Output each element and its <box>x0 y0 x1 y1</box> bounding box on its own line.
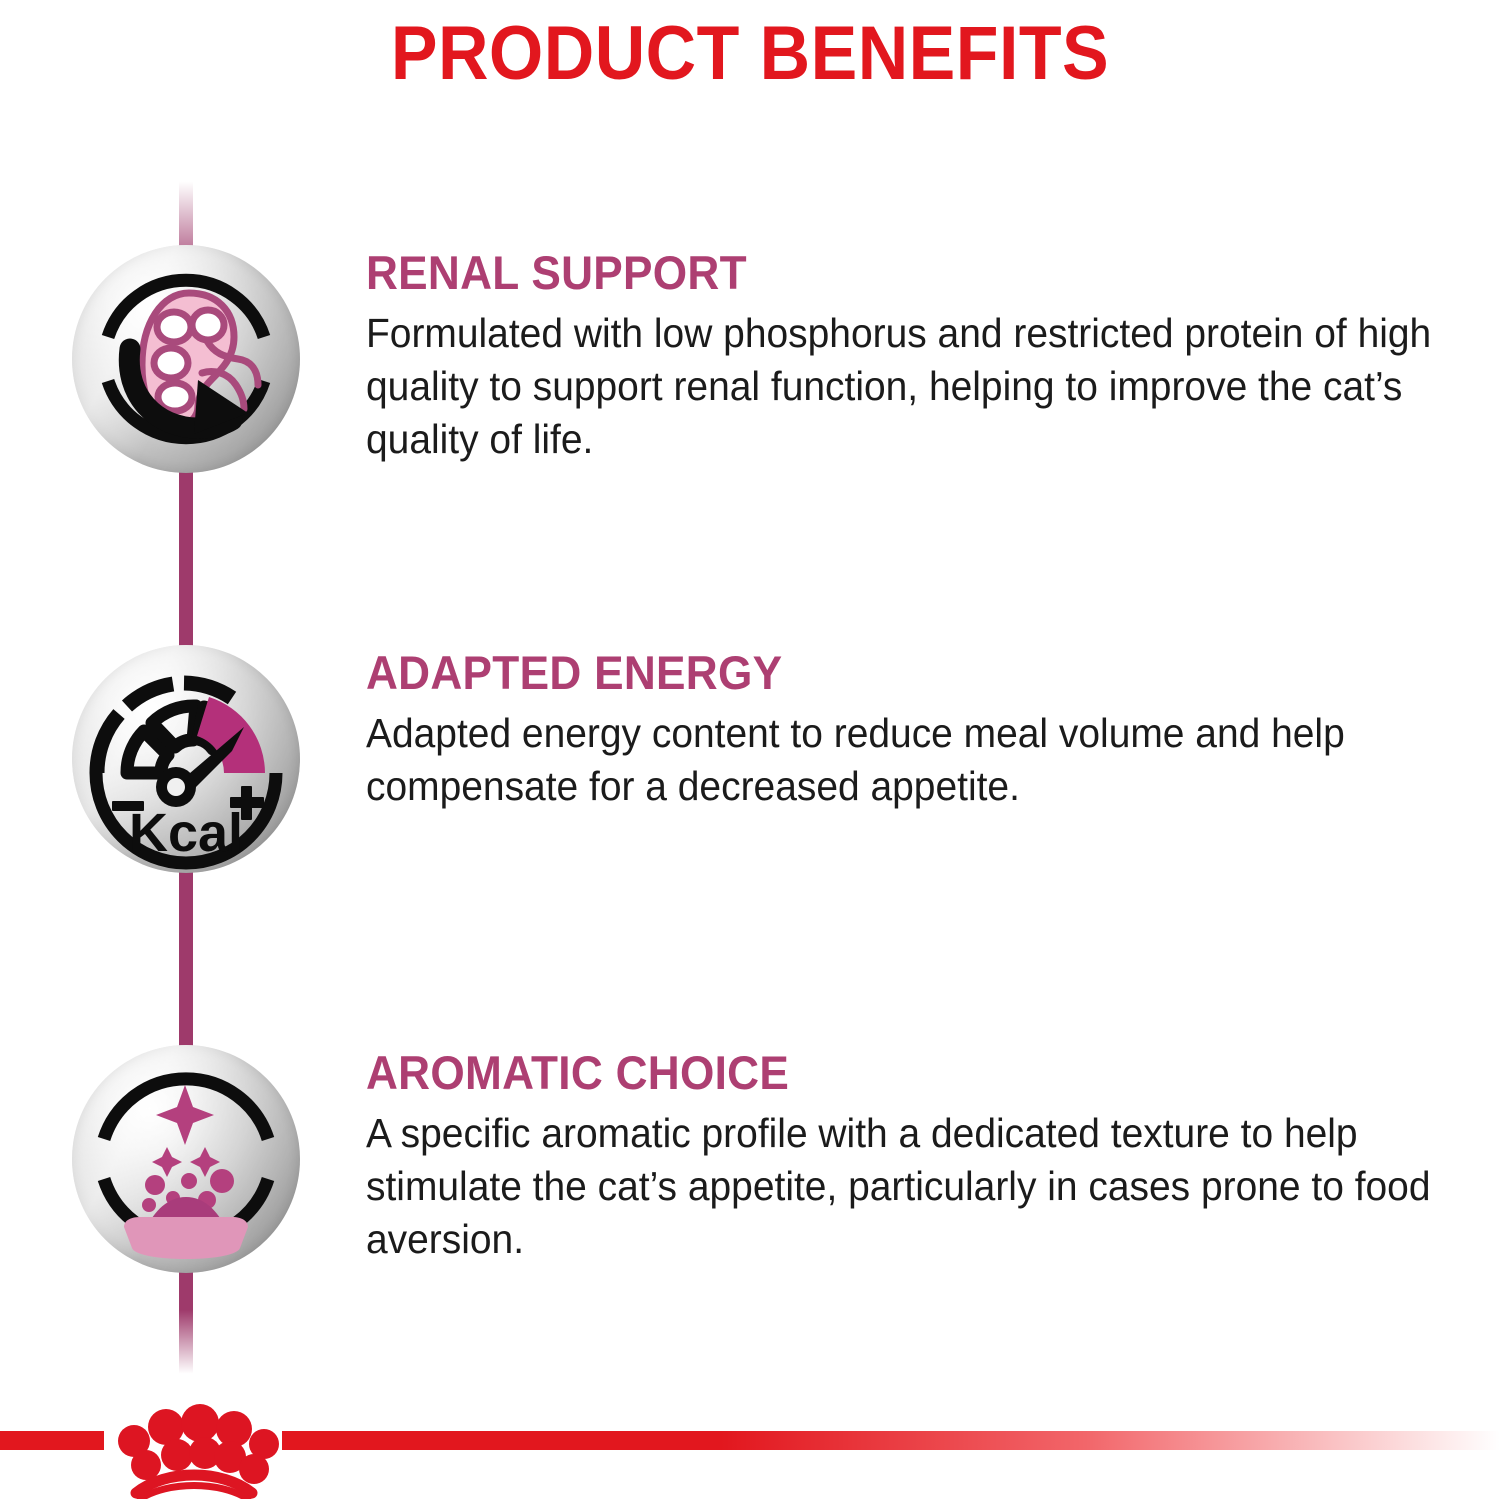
sparkle-small-left <box>152 1147 182 1177</box>
kcal-label: Kcal <box>129 803 243 863</box>
benefit-icon-renal <box>72 245 300 473</box>
timeline-rail-bottom <box>179 1268 193 1378</box>
benefit-body: Formulated with low phosphorus and restr… <box>366 307 1440 466</box>
benefit-heading: AROMATIC CHOICE <box>366 1045 1428 1101</box>
footer <box>0 1415 1500 1500</box>
benefit-body: Adapted energy content to reduce meal vo… <box>366 707 1440 813</box>
page-title: PRODUCT BENEFITS <box>60 8 1440 100</box>
footer-rule-right <box>282 1431 1500 1450</box>
kcal-gauge-icon: Kcal <box>72 645 300 873</box>
benefit-text-energy: ADAPTED ENERGY Adapted energy content to… <box>366 645 1496 813</box>
benefit-icon-aromatic <box>72 1045 300 1273</box>
benefit-text-aromatic: AROMATIC CHOICE A specific aromatic prof… <box>366 1045 1496 1266</box>
product-benefits-page: PRODUCT BENEFITS <box>0 0 1500 1500</box>
footer-rule-left <box>0 1431 104 1450</box>
benefit-heading: RENAL SUPPORT <box>366 245 1428 301</box>
kidney-renal-icon <box>72 245 300 473</box>
benefit-heading: ADAPTED ENERGY <box>366 645 1428 701</box>
benefit-body: A specific aromatic profile with a dedic… <box>366 1107 1440 1266</box>
food-bowl <box>124 1217 248 1259</box>
sparkle-large <box>156 1085 214 1145</box>
aromatic-bowl-icon <box>72 1045 300 1273</box>
benefit-icon-energy: Kcal <box>72 645 300 873</box>
benefit-text-renal: RENAL SUPPORT Formulated with low phosph… <box>366 245 1496 466</box>
royal-canin-crown-logo <box>106 1403 282 1499</box>
